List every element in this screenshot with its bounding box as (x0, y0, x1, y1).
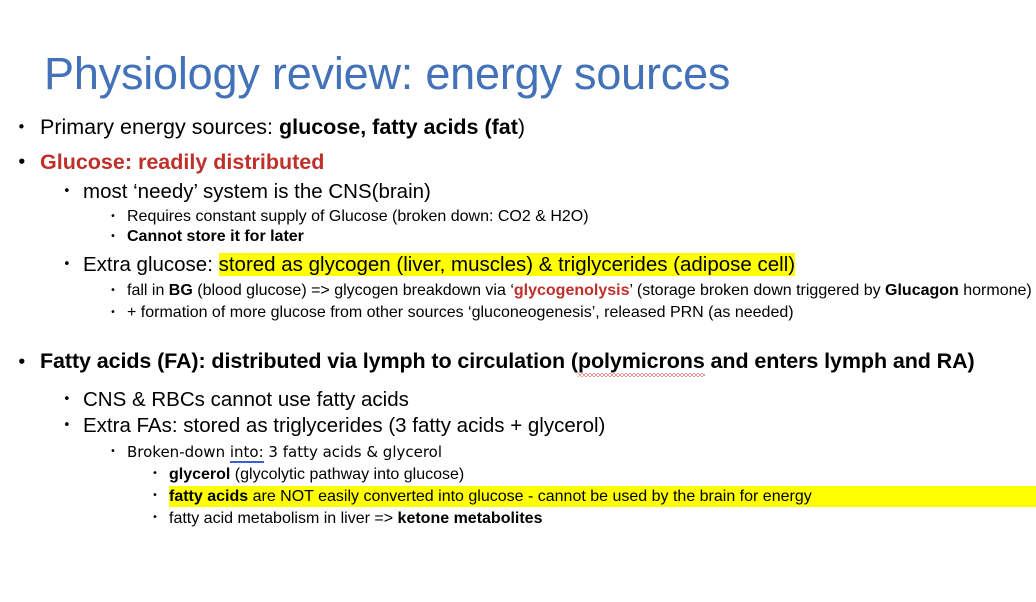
primary-bold: glucose, fatty acids (fat (279, 115, 518, 139)
bullet-icon: • (110, 308, 116, 318)
bullet-ketone-metabolites: • fatty acid metabolism in liver => keto… (0, 508, 1036, 529)
ketone-text: fatty acid metabolism in liver => ketone… (169, 508, 1036, 529)
glycerol-rest: (glycolytic pathway into glucose) (230, 466, 464, 483)
bullet-icon: • (110, 447, 116, 457)
bullet-gluconeogenesis: • + formation of more glucose from other… (0, 303, 1036, 323)
cannot-store-text: Cannot store it for later (127, 227, 1036, 247)
bullet-icon: • (17, 155, 27, 170)
bullet-icon: • (63, 393, 71, 406)
extra-glucose-text: Extra glucose: stored as glycogen (liver… (83, 252, 1036, 278)
extra-fas-text: Extra FAs: stored as triglycerides (3 fa… (83, 413, 1036, 439)
bullet-fatty-acids-not-converted: • fatty acids are NOT easily converted i… (0, 486, 1036, 507)
fatty-acids-rest: are NOT easily converted into glucose - … (248, 488, 812, 505)
bullet-icon: • (152, 491, 158, 501)
glucagon-term: Glucagon (885, 282, 959, 299)
requires-text: Requires constant supply of Glucose (bro… (127, 207, 1036, 227)
bullet-requires-constant-supply: • Requires constant supply of Glucose (b… (0, 207, 1036, 227)
grammarcheck-underline-into: into: (230, 443, 264, 463)
bullet-icon: • (110, 232, 116, 242)
bullet-fall-in-bg: • fall in BG (blood glucose) => glycogen… (0, 281, 1036, 301)
fall-bg-p3: ’ (storage broken down triggered by (629, 282, 885, 299)
fatty-acids-not-text: fatty acids are NOT easily converted int… (169, 486, 1036, 507)
extra-glucose-highlight: stored as glycogen (liver, muscles) & tr… (219, 253, 796, 276)
bullet-icon: • (110, 212, 116, 222)
fall-bg-p2: (blood glucose) => glycogen breakdown vi… (193, 282, 514, 299)
slide-body: • Primary energy sources: glucose, fatty… (0, 114, 1036, 529)
fatty-acids-heading-text: Fatty acids (FA): distributed via lymph … (40, 349, 1036, 374)
glycogenolysis-term: glycogenolysis (514, 282, 630, 299)
broken-down-p1: Broken-down (127, 443, 230, 461)
bullet-most-needy-system: • most ‘needy’ system is the CNS(brain) (0, 179, 1036, 205)
fatty-acids-bold: fatty acids (169, 488, 248, 505)
fa-heading-p2: and enters lymph and RA) (705, 349, 975, 373)
extra-glucose-lead: Extra glucose: (83, 253, 219, 276)
bullet-cns-rbc: • CNS & RBCs cannot use fatty acids (0, 387, 1036, 413)
bullet-icon: • (63, 419, 71, 432)
most-needy-text: most ‘needy’ system is the CNS(brain) (83, 179, 1036, 205)
glucose-heading-text: Glucose: readily distributed (40, 149, 1036, 176)
fall-bg-p1: fall in (127, 282, 169, 299)
fall-bg-text: fall in BG (blood glucose) => glycogen b… (127, 281, 1036, 301)
page-title: Physiology review: energy sources (44, 48, 1004, 100)
bullet-extra-glucose: • Extra glucose: stored as glycogen (liv… (0, 252, 1036, 278)
slide: Physiology review: energy sources • Prim… (0, 0, 1036, 602)
bullet-icon: • (17, 355, 27, 370)
broken-down-p2: 3 fatty acids & glycerol (264, 443, 442, 461)
bullet-primary-energy-sources: • Primary energy sources: glucose, fatty… (0, 114, 1036, 141)
fall-bg-bg: BG (169, 282, 193, 299)
ketone-bold: ketone metabolites (398, 510, 543, 527)
bullet-glycerol: • glycerol (glycolytic pathway into gluc… (0, 464, 1036, 485)
fall-bg-p4: hormone) (959, 282, 1032, 299)
bullet-icon: • (110, 286, 116, 296)
bullet-fatty-acids-heading: • Fatty acids (FA): distributed via lymp… (0, 349, 1036, 374)
spellcheck-squiggle-polymicrons: polymicrons (578, 349, 705, 373)
bullet-icon: • (152, 469, 158, 479)
formation-text: + formation of more glucose from other s… (127, 303, 1036, 323)
bullet-icon: • (63, 258, 71, 271)
glycerol-bold: glycerol (169, 466, 230, 483)
bullet-icon: • (63, 185, 71, 198)
fa-heading-p1: Fatty acids (FA): distributed via lymph … (40, 349, 578, 373)
primary-lead: Primary energy sources: (40, 115, 279, 139)
bullet-extra-fas: • Extra FAs: stored as triglycerides (3 … (0, 413, 1036, 439)
bullet-text: Primary energy sources: glucose, fatty a… (40, 114, 1036, 141)
broken-down-text: Broken-down into: 3 fatty acids & glycer… (127, 442, 1036, 462)
glycerol-text: glycerol (glycolytic pathway into glucos… (169, 464, 1036, 485)
bullet-icon: • (17, 120, 26, 135)
bullet-cannot-store: • Cannot store it for later (0, 227, 1036, 247)
bullet-broken-down: • Broken-down into: 3 fatty acids & glyc… (0, 442, 1036, 462)
cns-rbc-text: CNS & RBCs cannot use fatty acids (83, 387, 1036, 413)
primary-tail: ) (518, 115, 525, 139)
bullet-icon: • (152, 513, 158, 523)
bullet-glucose-heading: • Glucose: readily distributed (0, 149, 1036, 176)
ketone-lead: fatty acid metabolism in liver => (169, 510, 398, 527)
